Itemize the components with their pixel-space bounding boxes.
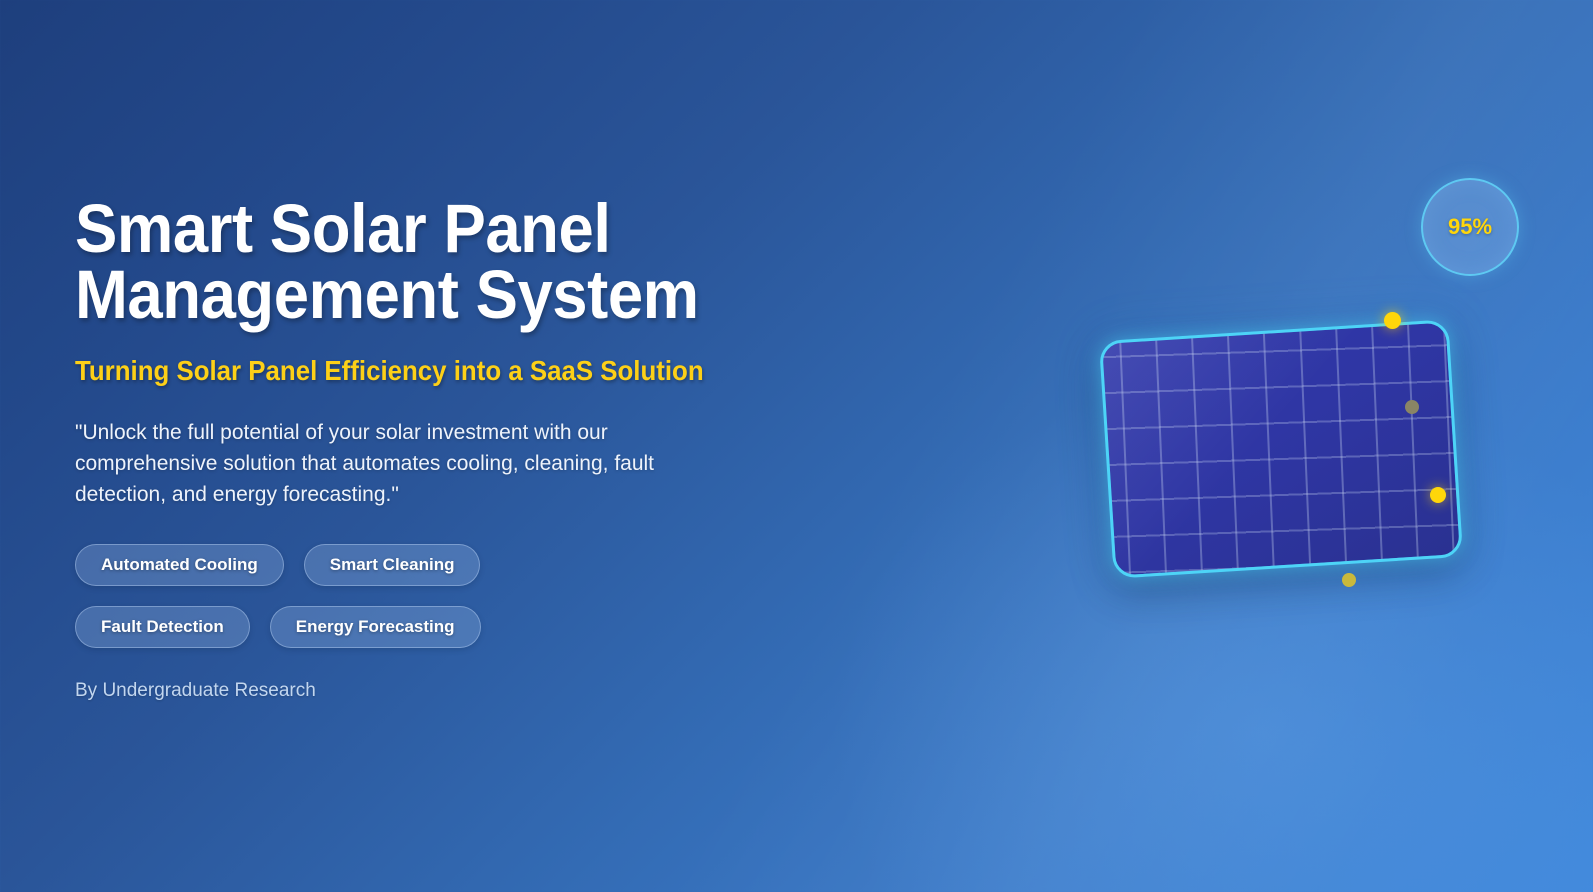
page-title: Smart Solar Panel Management System <box>75 196 811 327</box>
hero-visual: 95% <box>1040 150 1560 650</box>
hero-text-column: Smart Solar Panel Management System Turn… <box>75 196 875 702</box>
feature-pill-fault-detection[interactable]: Fault Detection <box>75 606 250 648</box>
sensor-dot-bottom <box>1342 573 1356 587</box>
sensor-dot-top-right <box>1384 312 1401 329</box>
sensor-dot-right-lower <box>1430 487 1446 503</box>
efficiency-badge-value: 95% <box>1448 214 1492 240</box>
efficiency-badge: 95% <box>1421 178 1519 276</box>
solar-panel-graphic <box>1099 319 1463 579</box>
feature-pill-list: Automated Cooling Smart Cleaning Fault D… <box>75 544 675 648</box>
hero-subtitle: Turning Solar Panel Efficiency into a Sa… <box>75 355 827 387</box>
feature-pill-automated-cooling[interactable]: Automated Cooling <box>75 544 284 586</box>
feature-pill-energy-forecasting[interactable]: Energy Forecasting <box>270 606 481 648</box>
solar-panel-cell-grid <box>1099 319 1463 579</box>
sensor-dot-right-upper <box>1405 400 1419 414</box>
hero-description: "Unlock the full potential of your solar… <box>75 417 715 510</box>
solar-panel-body <box>1099 319 1463 579</box>
hero-byline: By Undergraduate Research <box>75 680 875 702</box>
feature-pill-smart-cleaning[interactable]: Smart Cleaning <box>304 544 481 586</box>
